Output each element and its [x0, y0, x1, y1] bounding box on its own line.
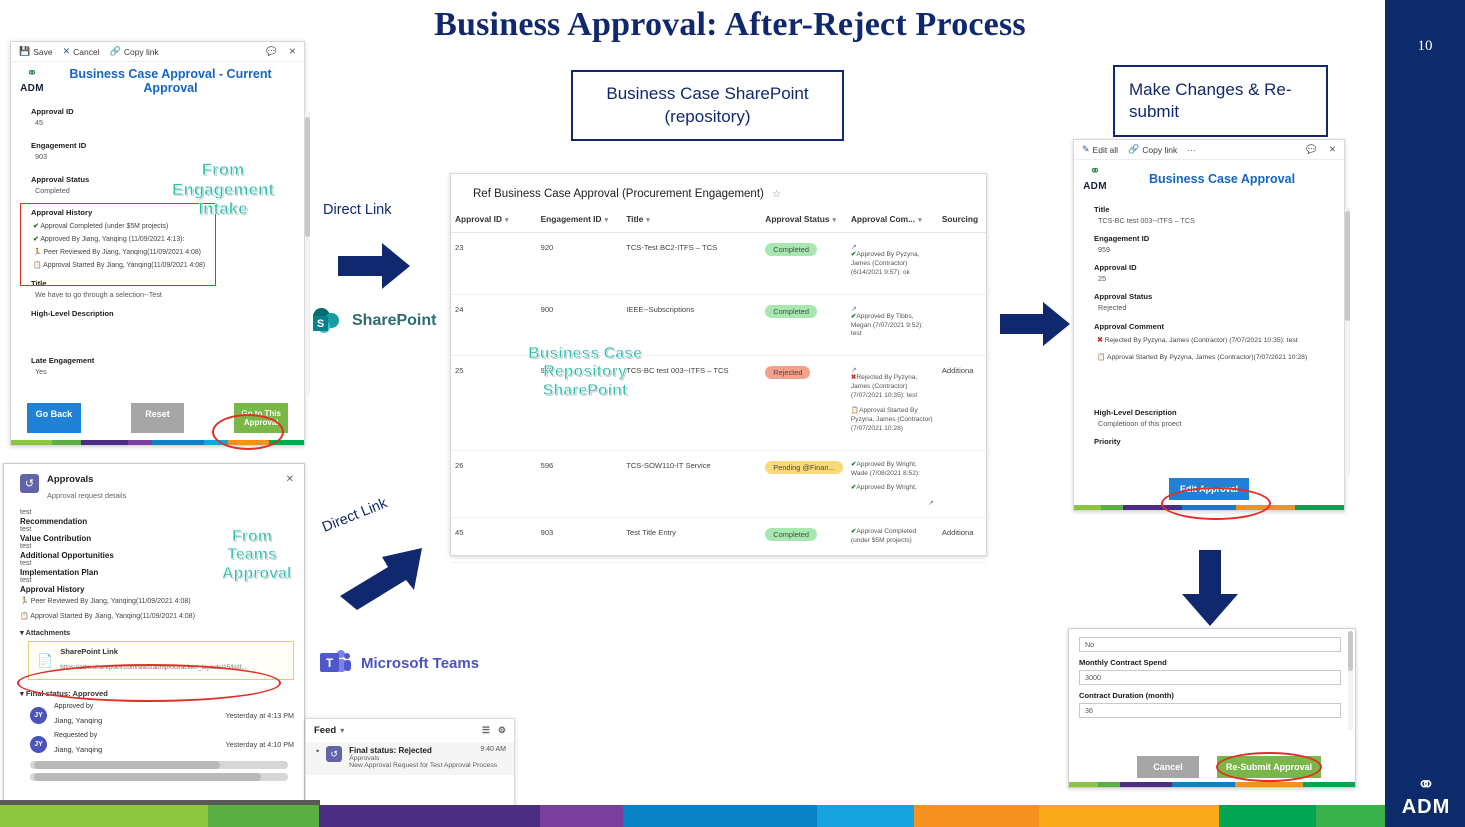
current-approval-header: ⚭ ADM Business Case Approval - Current A…	[11, 62, 304, 101]
save-icon: 💾	[19, 46, 30, 57]
direct-link-label-top: Direct Link	[323, 202, 392, 218]
bc-approval-command-bar[interactable]: ✎Edit all 🔗Copy link ··· 💬 ✕	[1074, 140, 1344, 160]
link-icon: 🔗	[1128, 144, 1139, 155]
attachment-name: SharePoint Link	[60, 647, 247, 656]
field-value: Rejected	[1094, 303, 1330, 312]
field-value: Yes	[31, 367, 290, 376]
current-approval-window[interactable]: 💾Save ✕Cancel 🔗Copy link 💬 ✕ ⚭ ADM Busin…	[10, 41, 305, 446]
feed-item[interactable]: • ↺ Final status: Rejected 9:40 AM Appro…	[306, 742, 514, 775]
sharepoint-list-title: Ref Business Case Approval (Procurement …	[451, 174, 986, 200]
x-icon: ✖	[1097, 337, 1103, 344]
comment-item: ✖ Rejected By Pyzyna, James (Contractor)…	[1097, 336, 1330, 346]
status-badge: Completed	[765, 243, 817, 256]
monthly-contract-spend-input[interactable]: 3000	[1079, 670, 1341, 685]
cell-status: Completed	[761, 518, 847, 563]
column-header-approval-status[interactable]: Approval Status▾	[761, 210, 847, 233]
favorite-star-icon[interactable]: ☆	[772, 189, 781, 200]
peer-review-icon: 🏃	[33, 249, 42, 256]
feed-title: Feed	[314, 725, 336, 736]
cell-status: Rejected	[761, 356, 847, 450]
go-to-this-approval-button[interactable]: Go to This Approval	[234, 403, 288, 433]
callout-make-changes-resubmit: Make Changes & Re-submit	[1113, 65, 1328, 137]
close-icon: ✕	[63, 46, 71, 57]
arrow-down-icon	[1182, 550, 1238, 626]
avatar: JY	[30, 736, 47, 753]
sharepoint-logo: S SharePoint	[313, 308, 436, 334]
cell-comment: ✔Approved By Wright, Wade (7/08/2021 8:5…	[847, 450, 938, 518]
edit-all-button[interactable]: ✎Edit all	[1082, 144, 1118, 155]
more-options-button[interactable]: ···	[1187, 145, 1196, 155]
approvals-app-icon: ↺	[20, 474, 39, 493]
open-external-icon[interactable]: ↗	[851, 499, 934, 507]
go-back-button[interactable]: Go Back	[27, 403, 81, 433]
adm-leaf-icon: ⚭	[1082, 164, 1108, 177]
history-item: 🏃 Peer Reviewed By Jiang, Yanqing(11/09/…	[20, 597, 294, 605]
cell-comment: ↗ ✔Approved By Tibbs, Megan (7/07/2021 9…	[847, 294, 938, 356]
horizontal-scrollbar[interactable]	[30, 773, 288, 781]
callout-sharepoint-repository: Business Case SharePoint (repository)	[571, 70, 844, 141]
gear-icon[interactable]: ⚙	[498, 725, 506, 736]
person-time: Yesterday at 4:10 PM	[226, 740, 294, 749]
slide-number: 10	[1385, 38, 1465, 55]
history-item: 📋 Approval Started By Jiang, Yanqing(11/…	[33, 261, 290, 269]
field-value: 25	[1094, 274, 1330, 283]
avatar: JY	[30, 707, 47, 724]
field-value	[31, 320, 290, 350]
clipboard-icon: 📋	[33, 262, 42, 269]
scrollbar-thumb[interactable]	[1345, 211, 1350, 321]
bc-approval-comment-section: Approval Comment ✖ Rejected By Pyzyna, J…	[1094, 322, 1330, 362]
cell-status: Pending @Finan...	[761, 450, 847, 518]
vertical-scrollbar[interactable]	[1345, 207, 1350, 477]
attachment-item[interactable]: 📄 SharePoint Link https://adm.sharepoint…	[28, 641, 294, 680]
cell-comment: ↗ ✔Approved By Pyzyna, James (Contractor…	[847, 233, 938, 295]
field-label: Approval ID	[31, 107, 290, 116]
current-approval-command-bar[interactable]: 💾Save ✕Cancel 🔗Copy link 💬 ✕	[11, 42, 304, 62]
column-header-title[interactable]: Title▾	[622, 210, 761, 233]
check-icon: ✔	[33, 223, 39, 230]
microsoft-teams-icon: T	[320, 650, 352, 676]
wordart-from-engagement-intake: From Engagement Intake	[150, 160, 296, 219]
clipboard-icon: 📋	[20, 613, 29, 620]
field-label: Engagement ID	[31, 141, 290, 150]
final-status-label[interactable]: ▾ Final status: Approved	[20, 689, 294, 698]
reset-button[interactable]: Reset	[131, 403, 185, 433]
approval-history-label: Approval History	[20, 585, 294, 594]
column-header-approval-id[interactable]: Approval ID▾	[451, 210, 537, 233]
vertical-scrollbar[interactable]	[1348, 631, 1353, 731]
person-role: Approved by	[54, 703, 102, 710]
field-value: 45	[31, 118, 290, 127]
field-label: Engagement ID	[1094, 234, 1330, 243]
close-icon[interactable]: ✕	[1329, 144, 1336, 155]
arrow-right-icon	[1000, 302, 1070, 346]
person-time: Yesterday at 4:13 PM	[226, 711, 294, 720]
teams-brand-label: Microsoft Teams	[361, 655, 479, 672]
current-approval-title: Business Case Approval - Current Approva…	[45, 67, 296, 95]
unread-dot-icon: •	[316, 746, 319, 769]
bc-approval-header: ⚭ ADM Business Case Approval	[1074, 160, 1344, 199]
teams-feed-card[interactable]: Feed ▾ ☰ ⚙ • ↺ Final status: Rejected 9:…	[305, 718, 515, 806]
filter-icon[interactable]: ☰	[482, 725, 490, 736]
history-item: ✔ Approval Completed (under $5M projects…	[33, 222, 290, 230]
field-label: Approval Status	[1094, 292, 1330, 301]
requester-row: JY Requested by Jiang, Yanqing Yesterday…	[30, 732, 294, 757]
cell-sourcing	[938, 450, 986, 518]
cell-sourcing	[938, 294, 986, 356]
column-header-sourcing[interactable]: Sourcing	[938, 210, 986, 233]
feed-item-time: 9:40 AM	[480, 746, 506, 755]
open-external-icon[interactable]: ↗	[851, 305, 934, 313]
field-label: High-Level Description	[31, 309, 290, 318]
adm-leaf-icon: ⚭	[1397, 774, 1455, 796]
cell-engagement-id: 596	[537, 450, 623, 518]
adm-logo: ⚭ ADM	[1082, 164, 1108, 193]
document-icon: 📄	[37, 653, 53, 669]
person-name: Jiang, Yanqing	[54, 716, 102, 725]
attachment-url: https://adm.sharepoint.com/sites/admproc…	[60, 664, 247, 671]
comment-icon[interactable]: 💬	[1306, 144, 1317, 155]
status-badge: Rejected	[765, 366, 810, 379]
comment-item: 📋 Approval Started By Pyzyna, James (Con…	[1097, 353, 1330, 363]
history-item: 🏃 Peer Reviewed By Jiang, Yanqing(11/09/…	[33, 248, 290, 256]
field-value: TCS-BC test 003--ITFS – TCS	[1094, 216, 1330, 225]
teams-card-subtitle: Approval request details	[47, 491, 126, 500]
field-label: Title	[1094, 205, 1330, 214]
sharepoint-icon: S	[313, 308, 343, 334]
history-item: 📋 Approval Started By Jiang, Yanqing(11/…	[20, 612, 294, 620]
field-label: Priority	[1094, 437, 1330, 446]
status-badge: Completed	[765, 528, 817, 541]
cell-title[interactable]: TCS-SOW110-IT Service	[622, 450, 761, 518]
chevron-down-icon: ▾	[505, 217, 509, 224]
close-icon[interactable]: ✕	[286, 474, 294, 485]
arrow-right-icon	[338, 243, 410, 289]
wordart-from-teams-approval: From Teams Approval	[222, 528, 282, 583]
slide-canvas: Business Approval: After-Reject Process …	[0, 0, 1465, 827]
close-icon[interactable]: ✕	[289, 46, 296, 57]
wordart-business-case-repository: Business Case Repository SharePoint	[500, 345, 670, 400]
page-title: Business Approval: After-Reject Process	[300, 6, 1160, 44]
table-row[interactable]: 26 596 TCS-SOW110-IT Service Pending @Fi…	[451, 450, 986, 518]
person-role: Requested by	[54, 732, 102, 739]
chevron-down-icon[interactable]: ▾	[340, 726, 344, 735]
cell-sourcing: Additiona	[938, 356, 986, 450]
arrow-up-right-icon	[340, 548, 424, 620]
contract-duration-input[interactable]: 36	[1079, 703, 1341, 718]
field-label: Approval ID	[1094, 263, 1330, 272]
column-header-engagement-id[interactable]: Engagement ID▾	[537, 210, 623, 233]
history-item: ✔ Approved By Jiang, Yanqing (11/09/2021…	[33, 235, 290, 243]
scrollbar-thumb[interactable]	[305, 117, 310, 237]
teams-card-title: Approvals	[47, 474, 126, 485]
cell-title[interactable]: Test Title Entry	[622, 518, 761, 563]
proprietary-note: Proprietary business information of ADM.	[1419, 70, 1465, 282]
clipped-value: test	[20, 509, 294, 516]
comment-icon[interactable]: 💬	[266, 46, 277, 57]
teams-card-header: ↺ Approvals Approval request details ✕	[4, 464, 304, 509]
cancel-button[interactable]: ✕Cancel	[63, 46, 100, 57]
cell-title[interactable]: TCS-Test BC2-ITFS – TCS	[622, 233, 761, 295]
contract-duration-label: Contract Duration (month)	[1079, 691, 1341, 700]
adm-logo: ⚭ ADM	[1397, 774, 1455, 819]
approvals-app-icon: ↺	[326, 746, 342, 762]
cell-status: Completed	[761, 233, 847, 295]
copy-link-button[interactable]: 🔗Copy link	[110, 46, 159, 57]
pencil-icon: ✎	[1082, 144, 1090, 155]
chevron-down-icon: ▾	[605, 217, 609, 224]
feed-item-description: New Approval Request for Test Approval P…	[349, 762, 506, 769]
edit-approval-button[interactable]: Edit Approval	[1169, 478, 1249, 500]
peer-review-icon: 🏃	[20, 598, 29, 605]
adm-leaf-icon: ⚭	[19, 66, 45, 79]
teams-approvals-card[interactable]: ↺ Approvals Approval request details ✕ t…	[3, 463, 305, 804]
field-value: 959	[1094, 245, 1330, 254]
cell-comment: ✔Approval Completed (under $5M projects)	[847, 518, 938, 563]
direct-link-label-bottom: Direct Link	[320, 495, 390, 535]
clipboard-icon: 📋	[851, 407, 859, 414]
right-sidebar: 10 Proprietary business information of A…	[1385, 0, 1465, 827]
feed-item-title: Final status: Rejected	[349, 746, 432, 755]
cell-sourcing	[938, 233, 986, 295]
attachments-label[interactable]: ▾ Attachments	[20, 628, 294, 637]
scrollbar-thumb[interactable]	[1348, 631, 1353, 671]
cell-approval-id: 26	[451, 450, 537, 518]
bc-approval-title: Business Case Approval	[1108, 172, 1336, 186]
cell-status: Completed	[761, 294, 847, 356]
field-label: Title	[31, 279, 290, 288]
horizontal-scrollbar[interactable]	[30, 761, 288, 769]
current-approval-fields-2: Title We have to go through a selection-…	[31, 279, 290, 376]
column-header-approval-comment[interactable]: Approval Com...▾	[847, 210, 938, 233]
cell-approval-id: 23	[451, 233, 537, 295]
feed-item-app: Approvals	[349, 755, 506, 762]
monthly-contract-spend-label: Monthly Contract Spend	[1079, 658, 1341, 667]
copy-link-label: Copy link	[124, 47, 159, 57]
vertical-scrollbar[interactable]	[305, 111, 310, 395]
field-label: Recommendation	[20, 517, 294, 526]
resubmit-approval-button[interactable]: Re-Submit Approval	[1217, 756, 1321, 778]
field-input-no[interactable]: No	[1079, 637, 1341, 652]
chevron-down-icon: ▾	[833, 217, 837, 224]
chevron-down-icon: ▾	[646, 217, 650, 224]
clipboard-icon: 📋	[1097, 354, 1105, 361]
cell-approval-id: 45	[451, 518, 537, 563]
cell-engagement-id: 920	[537, 233, 623, 295]
save-button[interactable]: 💾Save	[19, 46, 53, 57]
chevron-down-icon: ▾	[918, 217, 922, 224]
open-external-icon[interactable]: ↗	[851, 243, 934, 251]
field-label: High-Level Description	[1094, 408, 1330, 417]
copy-link-button[interactable]: 🔗Copy link	[1128, 144, 1177, 155]
cell-engagement-id: 903	[537, 518, 623, 563]
status-badge: Pending @Finan...	[765, 461, 842, 474]
adm-wordmark: ADM	[1397, 796, 1455, 819]
approver-row: JY Approved by Jiang, Yanqing Yesterday …	[30, 703, 294, 728]
cell-comment: ↗ ✖Rejected By Pyzyna, James (Contractor…	[847, 356, 938, 450]
feed-header[interactable]: Feed ▾ ☰ ⚙	[306, 719, 514, 742]
table-row[interactable]: 23 920 TCS-Test BC2-ITFS – TCS Completed…	[451, 233, 986, 295]
sharepoint-brand-label: SharePoint	[352, 312, 436, 330]
status-badge: Completed	[765, 305, 817, 318]
field-value: Completioon of this proect	[1094, 419, 1330, 428]
brand-color-bar	[0, 805, 1385, 827]
person-name: Jiang, Yanqing	[54, 745, 102, 754]
save-label: Save	[33, 47, 52, 57]
field-value: We have to go through a selection--Test	[31, 290, 290, 299]
cancel-label: Cancel	[73, 47, 99, 57]
table-row[interactable]: 45 903 Test Title Entry Completed ✔Appro…	[451, 518, 986, 563]
business-case-approval-window[interactable]: ✎Edit all 🔗Copy link ··· 💬 ✕ ⚭ ADM Busin…	[1073, 139, 1345, 511]
table-header-row: Approval ID▾ Engagement ID▾ Title▾ Appro…	[451, 210, 986, 233]
check-icon: ✔	[33, 236, 39, 243]
edit-approval-form-window[interactable]: No Monthly Contract Spend 3000 Contract …	[1068, 628, 1356, 788]
approval-comment-label: Approval Comment	[1094, 322, 1330, 331]
link-icon: 🔗	[110, 46, 121, 57]
cancel-button[interactable]: Cancel	[1137, 756, 1199, 778]
field-label: Late Engagement	[31, 356, 290, 365]
cell-sourcing: Additiona	[938, 518, 986, 563]
bc-approval-fields: Title TCS-BC test 003--ITFS – TCS Engage…	[1094, 205, 1330, 312]
adm-logo: ⚭ ADM	[19, 66, 45, 95]
bc-approval-fields-2: High-Level Description Completioon of th…	[1094, 408, 1330, 446]
teams-logo: T Microsoft Teams	[320, 650, 479, 676]
